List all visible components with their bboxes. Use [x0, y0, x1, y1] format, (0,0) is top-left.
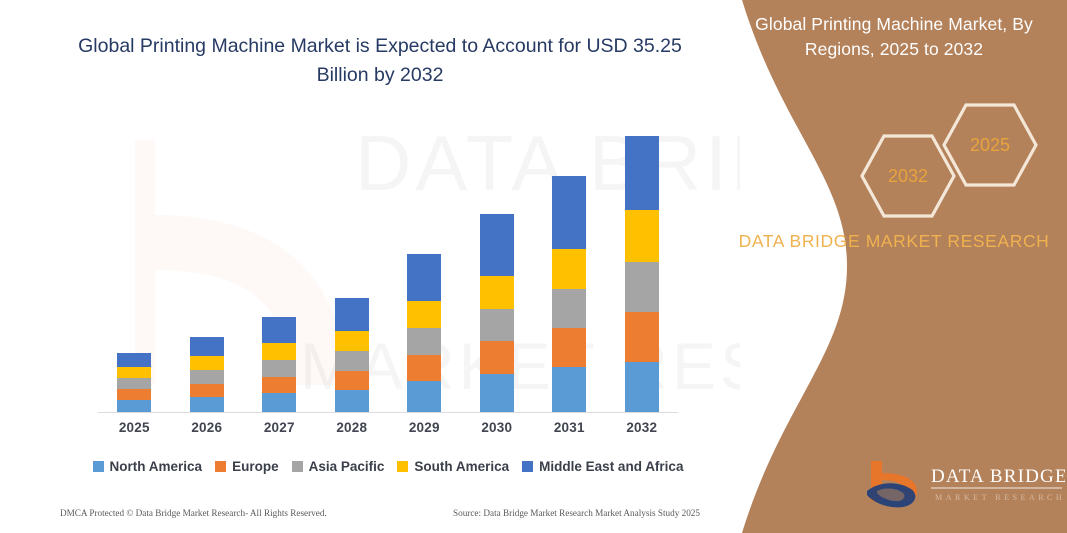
bar-segment[interactable]: [552, 367, 586, 412]
footer: DMCA Protected © Data Bridge Market Rese…: [60, 508, 700, 518]
hexagon-group: 2025 2032: [807, 100, 1057, 210]
stacked-bar[interactable]: [480, 214, 514, 412]
bar-segment[interactable]: [407, 301, 441, 328]
stacked-bar[interactable]: [190, 337, 224, 412]
bar-segment[interactable]: [262, 377, 296, 393]
bar-segment[interactable]: [335, 351, 369, 371]
chart-legend: North AmericaEuropeAsia PacificSouth Ame…: [98, 455, 678, 477]
bar-segment[interactable]: [335, 331, 369, 351]
x-axis-label: 2031: [534, 420, 604, 444]
bar-segment[interactable]: [480, 341, 514, 374]
hexagon-2032-label: 2032: [888, 166, 928, 187]
footer-copyright: DMCA Protected © Data Bridge Market Rese…: [60, 508, 327, 518]
bar-segment[interactable]: [407, 381, 441, 412]
bar-segment[interactable]: [625, 136, 659, 210]
hexagon-2025-label: 2025: [970, 135, 1010, 156]
panel-title: Global Printing Machine Market, By Regio…: [735, 12, 1053, 63]
legend-item[interactable]: Europe: [215, 459, 279, 474]
brand-panel: Global Printing Machine Market, By Regio…: [687, 0, 1067, 533]
bar-segment[interactable]: [117, 389, 151, 400]
stacked-bar[interactable]: [625, 136, 659, 412]
bar-segment[interactable]: [625, 210, 659, 262]
legend-label: Asia Pacific: [309, 459, 385, 474]
bar-column: [99, 353, 169, 412]
stacked-bar[interactable]: [552, 176, 586, 412]
infographic-root: DATA BRIDGE MARKET RESEARCH Global Print…: [0, 0, 1067, 533]
panel-brand-name: DATA BRIDGE MARKET RESEARCH: [735, 228, 1053, 254]
x-axis-label: 2027: [244, 420, 314, 444]
stacked-bar-group: [98, 110, 678, 412]
legend-swatch: [93, 461, 104, 472]
bar-segment[interactable]: [407, 254, 441, 301]
bar-segment[interactable]: [190, 337, 224, 356]
bar-segment[interactable]: [625, 362, 659, 412]
bar-segment[interactable]: [335, 390, 369, 412]
legend-item[interactable]: North America: [93, 459, 203, 474]
legend-label: South America: [414, 459, 509, 474]
legend-swatch: [397, 461, 408, 472]
bar-segment[interactable]: [552, 289, 586, 328]
bar-segment[interactable]: [552, 249, 586, 289]
legend-label: North America: [110, 459, 203, 474]
legend-swatch: [215, 461, 226, 472]
bar-segment[interactable]: [552, 176, 586, 249]
x-axis-label: 2029: [389, 420, 459, 444]
legend-item[interactable]: Middle East and Africa: [522, 459, 683, 474]
svg-text:MARKET RESEARCH: MARKET RESEARCH: [935, 493, 1065, 502]
bar-segment[interactable]: [480, 214, 514, 276]
bar-segment[interactable]: [117, 378, 151, 389]
x-axis-label: 2026: [172, 420, 242, 444]
stacked-bar[interactable]: [407, 254, 441, 412]
bar-segment[interactable]: [190, 397, 224, 412]
legend-label: Middle East and Africa: [539, 459, 683, 474]
bar-segment[interactable]: [117, 367, 151, 378]
legend-label: Europe: [232, 459, 279, 474]
legend-swatch: [292, 461, 303, 472]
bar-segment[interactable]: [625, 262, 659, 312]
bar-segment[interactable]: [407, 355, 441, 381]
bar-column: [462, 214, 532, 412]
legend-item[interactable]: South America: [397, 459, 509, 474]
stacked-bar[interactable]: [117, 353, 151, 412]
legend-item[interactable]: Asia Pacific: [292, 459, 385, 474]
x-axis-label: 2030: [462, 420, 532, 444]
hexagon-2025: 2025: [942, 102, 1038, 188]
bar-column: [244, 317, 314, 412]
bar-segment[interactable]: [262, 393, 296, 412]
svg-text:DATA BRIDGE: DATA BRIDGE: [931, 466, 1065, 487]
x-axis-label: 2032: [607, 420, 677, 444]
x-axis-line: [98, 412, 678, 413]
bar-segment[interactable]: [625, 312, 659, 362]
stacked-bar[interactable]: [335, 298, 369, 412]
bar-column: [172, 337, 242, 412]
bar-segment[interactable]: [335, 371, 369, 390]
stacked-bar[interactable]: [262, 317, 296, 412]
x-axis-label: 2025: [99, 420, 169, 444]
bar-segment[interactable]: [262, 360, 296, 377]
bar-column: [317, 298, 387, 412]
bar-segment[interactable]: [190, 370, 224, 384]
bar-segment[interactable]: [480, 276, 514, 309]
bar-segment[interactable]: [335, 298, 369, 331]
bar-segment[interactable]: [262, 317, 296, 343]
bar-segment[interactable]: [407, 328, 441, 355]
x-axis-labels: 20252026202720282029203020312032: [98, 420, 678, 444]
data-bridge-logo: DATA BRIDGE MARKET RESEARCH: [865, 455, 1065, 511]
bar-segment[interactable]: [262, 343, 296, 360]
chart-plot-area: 20252026202720282029203020312032 North A…: [0, 0, 740, 533]
bar-column: [607, 136, 677, 412]
bar-segment[interactable]: [480, 309, 514, 341]
hexagon-2032: 2032: [860, 133, 956, 219]
footer-source: Source: Data Bridge Market Research Mark…: [453, 508, 700, 518]
bar-segment[interactable]: [190, 356, 224, 370]
bar-column: [534, 176, 604, 412]
x-axis-label: 2028: [317, 420, 387, 444]
bar-segment[interactable]: [480, 374, 514, 412]
bar-segment[interactable]: [117, 353, 151, 367]
legend-swatch: [522, 461, 533, 472]
bar-segment[interactable]: [190, 384, 224, 397]
bar-column: [389, 254, 459, 412]
bar-segment[interactable]: [117, 400, 151, 412]
bar-segment[interactable]: [552, 328, 586, 367]
